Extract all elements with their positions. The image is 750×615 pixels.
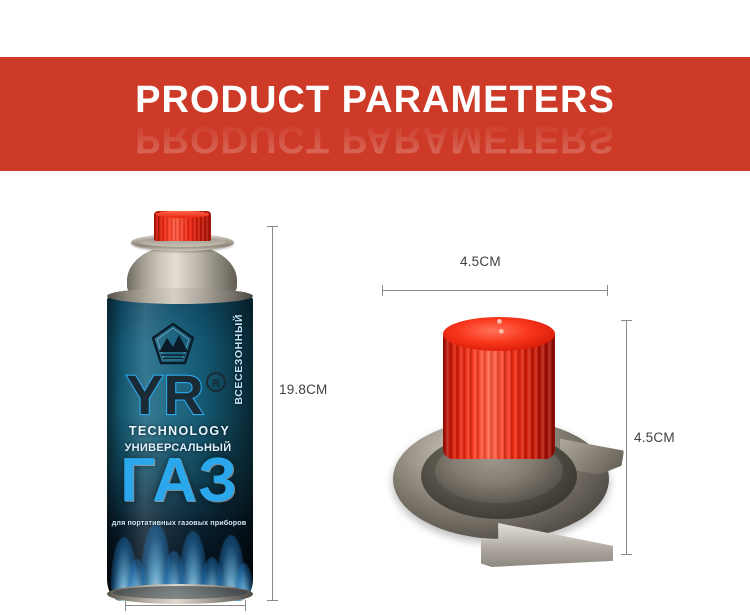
canister-shoulder [107, 288, 253, 304]
svg-text:R: R [212, 378, 220, 390]
canister-gas-text: ГАЗ [109, 450, 249, 512]
canister-red-cap [154, 211, 211, 241]
svg-text:YR: YR [126, 364, 204, 426]
mountain-emblem-icon [151, 322, 195, 366]
valve-cap-nub [499, 329, 504, 334]
gas-canister-image: YR R TECHNOLOGY УНИВЕРСАЛЬНЫЙ ГАЗ для по… [105, 206, 255, 606]
canister-seasonal-text: ВСЕСЕЗОННЫЙ [233, 314, 245, 405]
valve-assembly-image [385, 311, 635, 591]
product-parameters-banner: PRODUCT PARAMETERS PRODUCT PARAMETERS [0, 57, 750, 171]
canister-subtitle-text: для портативных газовых приборов [109, 518, 249, 527]
dimension-label-valve-height: 4.5CM [634, 430, 675, 445]
page-title-reflection: PRODUCT PARAMETERS [0, 120, 750, 158]
canister-technology-text: TECHNOLOGY [117, 424, 242, 438]
valve-cap-nub [497, 319, 502, 324]
dimension-label-canister-height: 19.8CM [279, 382, 327, 397]
page-title: PRODUCT PARAMETERS [0, 81, 750, 119]
dimension-label-valve-width: 4.5CM [460, 254, 501, 269]
product-stage: YR R TECHNOLOGY УНИВЕРСАЛЬНЫЙ ГАЗ для по… [0, 171, 750, 615]
canister-base [107, 584, 253, 604]
yr-brand-logo: YR R [118, 364, 238, 426]
